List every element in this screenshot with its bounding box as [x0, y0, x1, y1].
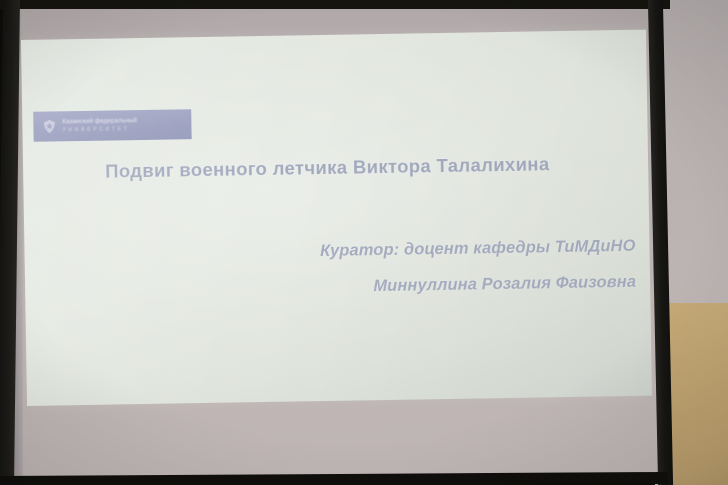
slide-subtitle-curator: Куратор: доцент кафедры ТиМДиНО — [195, 237, 635, 263]
university-logo-banner: Казанский федеральный УНИВЕРСИТЕТ — [33, 109, 191, 142]
logo-text-block: Казанский федеральный УНИВЕРСИТЕТ — [62, 118, 137, 133]
presentation-slide: Казанский федеральный УНИВЕРСИТЕТ Подвиг… — [21, 30, 652, 406]
slide-subtitle-name: Миннуллина Розалия Фаизовна — [196, 273, 636, 299]
photo-of-projected-slide: Казанский федеральный УНИВЕРСИТЕТ Подвиг… — [0, 0, 728, 485]
kfu-emblem-icon — [42, 118, 56, 134]
screen-frame-top — [0, 0, 670, 9]
slide-title: Подвиг военного летчика Виктора Талалихи… — [105, 152, 625, 183]
logo-line-primary: Казанский федеральный — [62, 118, 137, 125]
logo-line-secondary: УНИВЕРСИТЕТ — [62, 127, 137, 133]
wall-lower-panel — [668, 303, 728, 485]
